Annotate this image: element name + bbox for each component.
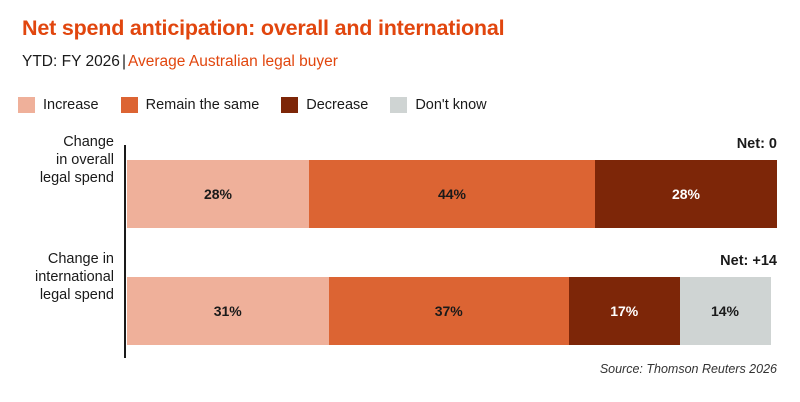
bar-segment-0-1[interactable]: 44% [309, 160, 595, 228]
bar-segment-1-1[interactable]: 37% [329, 277, 570, 345]
stacked-bar-1: 31%37%17%14% [127, 277, 777, 345]
bar-segment-1-2[interactable]: 17% [569, 277, 680, 345]
source-note: Source: Thomson Reuters 2026 [127, 362, 777, 376]
chart-plot-area: Changein overalllegal spend Net: 0 28%44… [0, 0, 800, 402]
bar-segment-1-0[interactable]: 31% [127, 277, 329, 345]
bar-row-label-1: Change ininternationallegal spend [0, 250, 114, 304]
bar-segment-0-2[interactable]: 28% [595, 160, 777, 228]
net-label-0: Net: 0 [127, 136, 777, 152]
bar-segment-1-3[interactable]: 14% [680, 277, 771, 345]
y-axis-line [124, 145, 126, 358]
bar-segment-0-0[interactable]: 28% [127, 160, 309, 228]
net-label-1: Net: +14 [127, 253, 777, 269]
stacked-bar-0: 28%44%28% [127, 160, 777, 228]
bar-row-label-0: Changein overalllegal spend [0, 133, 114, 187]
